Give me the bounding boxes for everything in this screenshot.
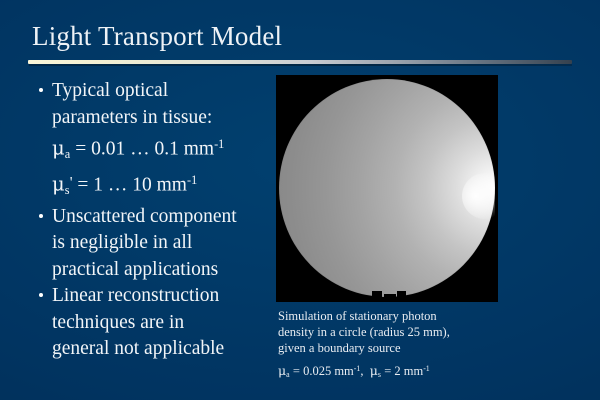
mu-symbol: μ xyxy=(52,136,65,159)
formula-body: = 0.025 mm xyxy=(290,364,354,378)
bullet-text-line: is negligible in all xyxy=(52,230,268,257)
formula-body: = 2 mm xyxy=(381,364,423,378)
mu-symbol: μ xyxy=(278,363,286,378)
bullet-text-line: practical applications xyxy=(52,257,268,284)
bullet-dot-icon xyxy=(39,293,43,297)
bullet-text-line: Typical optical xyxy=(52,78,268,105)
page-title: Light Transport Model xyxy=(32,19,282,53)
bullet-text-line: parameters in tissue: xyxy=(52,105,268,132)
bullet-formula-line: μa = 0.01 … 0.1 mm-1 xyxy=(52,131,268,167)
formula-exponent: -1 xyxy=(187,173,197,187)
figure-caption: Simulation of stationary photon density … xyxy=(278,308,578,383)
bullet-list: Typical optical parameters in tissue: μa… xyxy=(36,78,268,363)
list-item: Linear reconstruction techniques are in … xyxy=(36,283,268,363)
photon-density-disc xyxy=(279,79,495,297)
caption-line: Simulation of stationary photon xyxy=(278,308,578,324)
list-item: Unscattered component is negligible in a… xyxy=(36,204,268,284)
simulation-figure xyxy=(276,75,498,302)
bullet-text-line: techniques are in xyxy=(52,310,268,337)
bullet-dot-icon xyxy=(39,88,43,92)
caption-line: given a boundary source xyxy=(278,340,578,356)
bullet-text-line: general not applicable xyxy=(52,336,268,363)
formula-exponent: -1 xyxy=(423,364,430,373)
title-rule xyxy=(28,60,572,64)
formula-body: = 1 … 10 mm xyxy=(73,175,187,196)
bullet-dot-icon xyxy=(39,214,43,218)
bullet-text-line: Linear reconstruction xyxy=(52,283,268,310)
slide: Light Transport Model Typical optical pa… xyxy=(0,0,600,400)
formula-exponent: -1 xyxy=(214,137,224,151)
bullet-text-line: Unscattered component xyxy=(52,204,268,231)
title-rule-shadow xyxy=(29,64,572,66)
figure-background xyxy=(276,75,498,302)
mu-symbol: μ xyxy=(52,173,65,196)
list-item: Typical optical parameters in tissue: μa… xyxy=(36,78,268,204)
caption-parameters: μa = 0.025 mm-1, μs = 2 mm-1 xyxy=(278,361,578,383)
mu-symbol: μ xyxy=(370,363,378,378)
bullet-formula-line: μs' = 1 … 10 mm-1 xyxy=(52,167,268,203)
formula-body: = 0.01 … 0.1 mm xyxy=(70,138,214,159)
caption-line: density in a circle (radius 25 mm), xyxy=(278,324,578,340)
formula-separator: , xyxy=(360,364,363,378)
